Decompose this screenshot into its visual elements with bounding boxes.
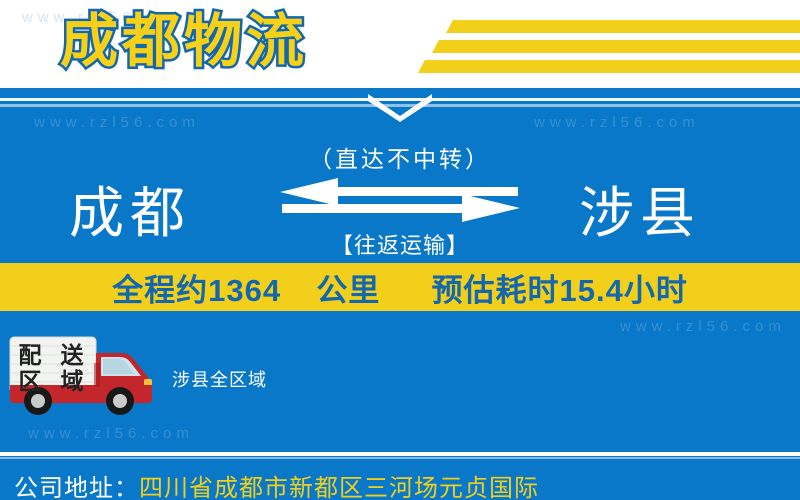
chevron-down-icon — [368, 92, 432, 122]
company-address: 公司地址：四川省成都市新都区三河场元贞国际 — [14, 468, 539, 500]
svg-text:域: 域 — [61, 368, 84, 394]
coverage-area-text: 涉县全区域 — [172, 366, 267, 392]
svg-text:送: 送 — [61, 342, 84, 368]
logistics-banner: www.rzl56.com 成都物流 www.rzl56.com www.rzl… — [0, 0, 800, 500]
watermark-left-bottom: www.rzl56.com — [28, 425, 194, 442]
decorative-stripe-3 — [418, 60, 800, 73]
round-trip-note: 【往返运输】 — [280, 228, 520, 260]
watermark-right-top: www.rzl56.com — [534, 114, 700, 131]
decorative-stripe-1 — [446, 20, 800, 33]
divider-bottom-solid — [0, 452, 800, 456]
main-body: www.rzl56.com www.rzl56.com （直达不中转） 成都 涉… — [0, 88, 800, 500]
distance-value: 全程约1364 — [112, 273, 281, 308]
duration-text: 预估耗时15.4小时 — [432, 273, 688, 308]
svg-text:配: 配 — [19, 342, 42, 368]
origin-city: 成都 — [0, 168, 260, 248]
distance-band: 全程约1364 公里 预估耗时15.4小时 — [0, 263, 800, 311]
delivery-truck-icon: 配 送 区 域 — [8, 333, 160, 417]
header-band: www.rzl56.com 成都物流 — [0, 0, 800, 88]
watermark-right-mid: www.rzl56.com — [620, 318, 786, 335]
divider-bottom-light — [0, 457, 800, 459]
address-value: 四川省成都市新都区三河场元贞国际 — [139, 475, 539, 500]
distance-text: 全程约1364 公里 预估耗时15.4小时 — [112, 265, 688, 310]
destination-city: 涉县 — [510, 168, 770, 248]
double-arrow-icon — [280, 176, 520, 222]
svg-text:区: 区 — [19, 368, 42, 394]
page-title: 成都物流 — [60, 4, 308, 80]
distance-unit: 公里 — [316, 273, 380, 308]
watermark-left-top: www.rzl56.com — [34, 114, 200, 131]
decorative-stripe-2 — [432, 40, 800, 53]
address-label: 公司地址： — [14, 475, 139, 500]
